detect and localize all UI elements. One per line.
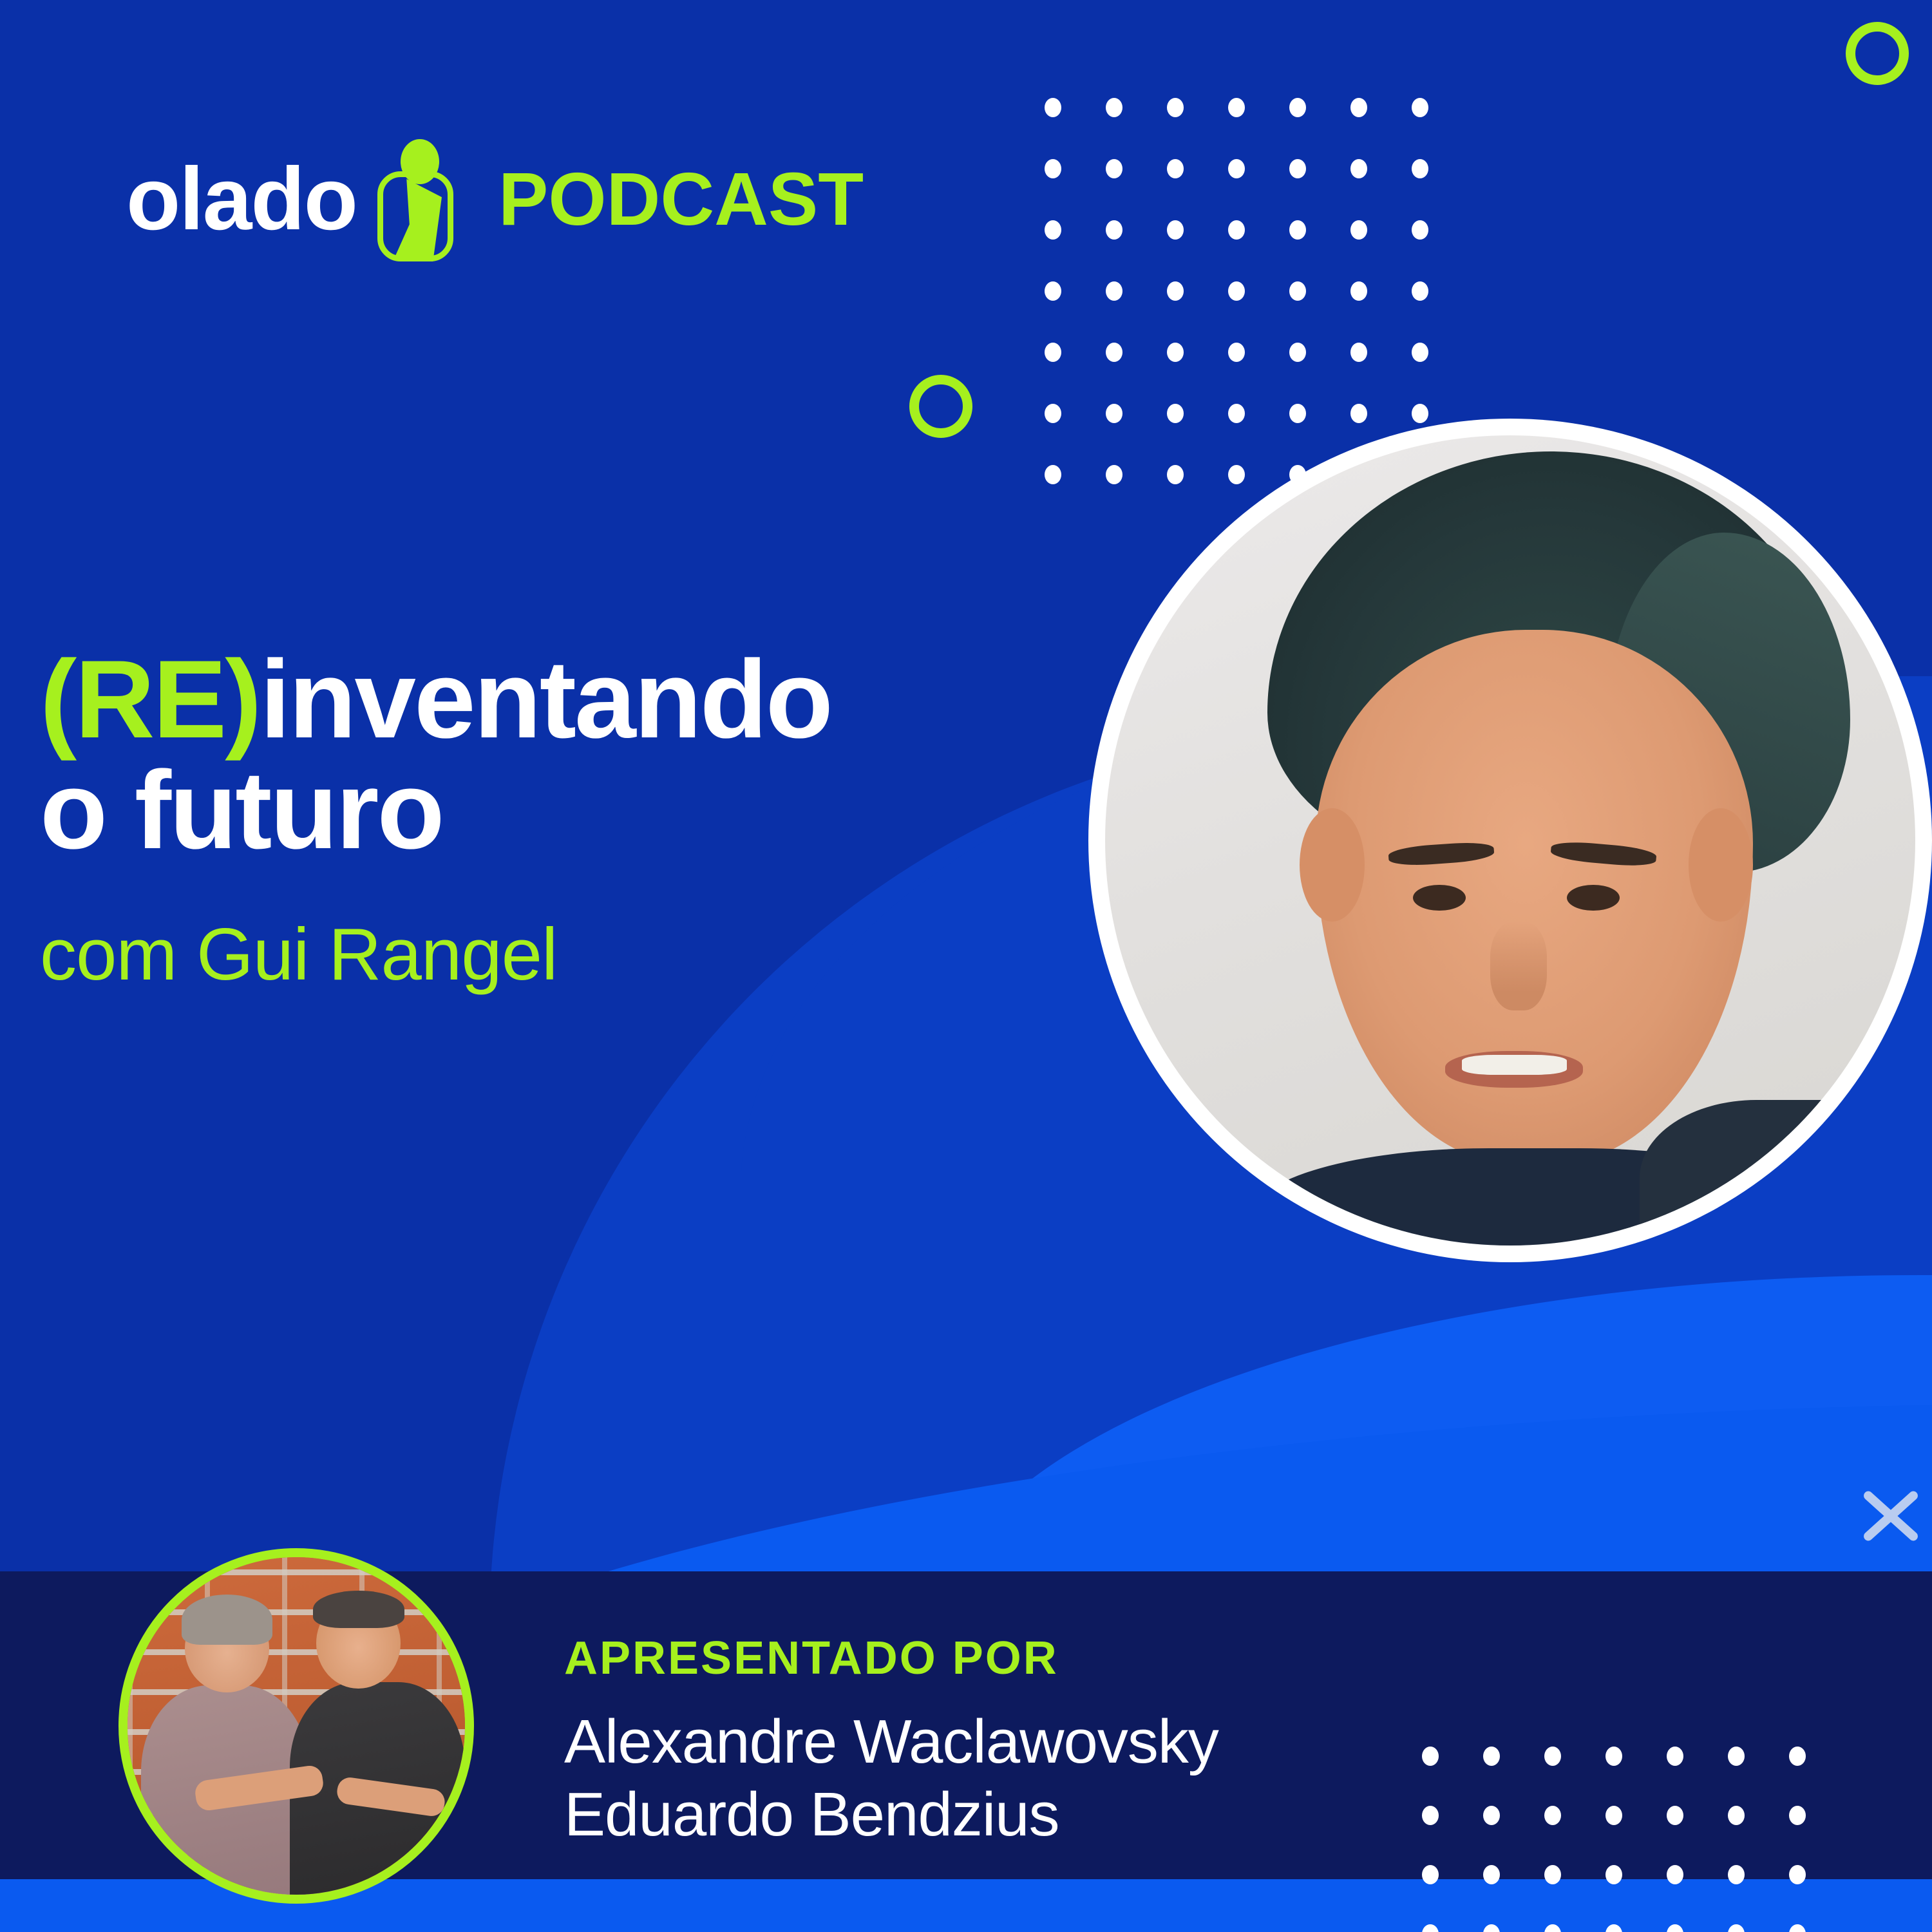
dot <box>1544 1747 1561 1766</box>
presented-by-label: APRESENTADO POR <box>564 1632 1059 1685</box>
guest-ear-left <box>1300 808 1365 922</box>
dot <box>1167 159 1184 178</box>
guest-eye-right <box>1567 885 1620 911</box>
dot <box>1167 465 1184 484</box>
dot <box>1350 281 1367 301</box>
dot <box>1228 220 1245 240</box>
title-line-1-rest: inventando <box>260 638 831 761</box>
dot <box>1045 159 1061 178</box>
brand-lockup: olado PODCAST <box>126 137 864 261</box>
dot <box>1789 1747 1806 1766</box>
dot <box>1289 343 1306 362</box>
dot <box>1350 220 1367 240</box>
dot <box>1350 98 1367 117</box>
dot <box>1605 1865 1622 1884</box>
dot <box>1728 1865 1745 1884</box>
host-b-hair <box>313 1591 404 1628</box>
dot <box>1289 404 1306 423</box>
dot <box>1544 1806 1561 1825</box>
dot <box>1483 1806 1500 1825</box>
dot <box>1228 159 1245 178</box>
dot <box>1106 281 1122 301</box>
dot <box>1422 1806 1439 1825</box>
episode-title-line-2: o futuro <box>40 755 1135 866</box>
dot <box>1167 98 1184 117</box>
guest-nose <box>1490 922 1547 1010</box>
title-re-accent: (RE) <box>40 638 260 761</box>
dot <box>1412 343 1428 362</box>
dot <box>1483 1865 1500 1884</box>
dot <box>1106 343 1122 362</box>
green-ring-middle-icon <box>909 375 972 438</box>
dot <box>1412 404 1428 423</box>
dot <box>1106 159 1122 178</box>
presenter-name: Eduardo Bendzius <box>564 1778 1218 1851</box>
dot <box>1544 1865 1561 1884</box>
dot <box>1167 220 1184 240</box>
dot <box>1422 1865 1439 1884</box>
dot <box>1045 465 1061 484</box>
dot <box>1350 404 1367 423</box>
hosts-avatar <box>118 1548 474 1904</box>
dot <box>1106 220 1122 240</box>
guest-eye-left <box>1413 885 1466 911</box>
dot <box>1289 220 1306 240</box>
dot <box>1483 1747 1500 1766</box>
hosts-photo <box>128 1557 465 1895</box>
dot <box>1045 343 1061 362</box>
presenter-name-list: Alexandre Waclawovsky Eduardo Bendzius <box>564 1705 1218 1851</box>
dot <box>1045 281 1061 301</box>
dot <box>1422 1747 1439 1766</box>
dot <box>1228 98 1245 117</box>
dot <box>1412 220 1428 240</box>
dot <box>1412 159 1428 178</box>
green-ring-top-right-icon <box>1846 22 1909 85</box>
episode-guest-subtitle: com Gui Rangel <box>40 918 1135 992</box>
dot <box>1106 98 1122 117</box>
presenter-name: Alexandre Waclawovsky <box>564 1705 1218 1778</box>
x-mark-right-icon <box>1856 1481 1926 1551</box>
episode-title-block: (RE)inventando o futuro com Gui Rangel <box>40 644 1135 992</box>
dot <box>1667 1747 1683 1766</box>
host-a-hair <box>182 1595 272 1645</box>
podcast-cover: olado PODCAST (RE)inventando o futuro co… <box>0 0 1932 1932</box>
dot <box>1412 281 1428 301</box>
dot <box>1667 1806 1683 1825</box>
dot <box>1228 465 1245 484</box>
dot <box>1289 159 1306 178</box>
dot <box>1350 343 1367 362</box>
brand-wordmark: olado <box>126 155 357 243</box>
dot <box>1106 404 1122 423</box>
dot <box>1412 98 1428 117</box>
dot <box>1605 1806 1622 1825</box>
dot <box>1228 343 1245 362</box>
dot <box>1045 98 1061 117</box>
dot <box>1289 281 1306 301</box>
dot <box>1167 404 1184 423</box>
dot <box>1045 220 1061 240</box>
dot <box>1605 1747 1622 1766</box>
dot <box>1228 404 1245 423</box>
guest-photo-frame <box>1088 419 1932 1262</box>
dot <box>1045 404 1061 423</box>
dot <box>1167 281 1184 301</box>
episode-title-line-1: (RE)inventando <box>40 644 1135 755</box>
dot <box>1228 281 1245 301</box>
dot <box>1728 1806 1745 1825</box>
dot <box>1167 343 1184 362</box>
dot <box>1728 1747 1745 1766</box>
guest-shirt-shoulder <box>1640 1100 1915 1245</box>
dot <box>1289 98 1306 117</box>
podcast-label: PODCAST <box>498 162 864 236</box>
dot <box>1667 1865 1683 1884</box>
guest-ear-right <box>1689 808 1754 922</box>
dot <box>1350 159 1367 178</box>
person-in-rounded-square-icon <box>368 139 465 261</box>
guest-photo <box>1105 435 1915 1245</box>
dot <box>1789 1865 1806 1884</box>
dot <box>1106 465 1122 484</box>
guest-teeth <box>1462 1055 1567 1074</box>
dot <box>1789 1806 1806 1825</box>
